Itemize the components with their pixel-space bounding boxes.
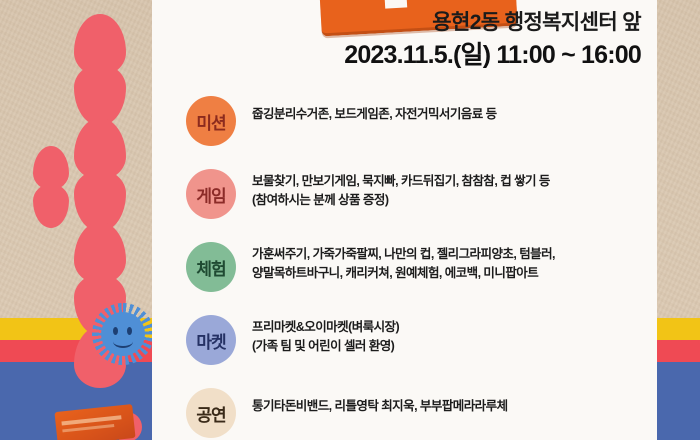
smiley-mouth [113, 335, 133, 348]
program-text: 보물찾기, 만보기게임, 묵지빠, 카드뒤집기, 참참참, 컵 쌓기 등 (참여… [236, 169, 646, 209]
event-datetime: 2023.11.5.(일) 11:00 ~ 16:00 [344, 40, 641, 70]
category-badge-performance: 공연 [186, 388, 236, 438]
content-panel: 용현2동 행정복지센터 앞 2023.11.5.(일) 11:00 ~ 16:0… [152, 0, 657, 440]
category-badge-experience: 체험 [186, 242, 236, 292]
program-line: 가훈써주기, 가죽가죽팔찌, 나만의 컵, 젤리그라피양초, 텀블러, [252, 245, 646, 263]
smiley-eye-right [127, 327, 132, 335]
program-row: 공연 통기타돈비밴드, 리틀영탁 최지욱, 부부팝메라라루체 [186, 388, 646, 438]
smiley-face [101, 312, 145, 356]
category-badge-market: 마켓 [186, 315, 236, 365]
event-poster: 용현2동 행정복지센터 앞 2023.11.5.(일) 11:00 ~ 16:0… [0, 0, 700, 440]
blue-smiley-sun-icon [92, 303, 154, 365]
program-text: 통기타돈비밴드, 리틀영탁 최지욱, 부부팝메라라루체 [236, 388, 646, 415]
program-text: 줍깅분리수거존, 보드게임존, 자전거믹서기음료 등 [236, 96, 646, 123]
program-row: 미션 줍깅분리수거존, 보드게임존, 자전거믹서기음료 등 [186, 96, 646, 146]
program-row: 체험 가훈써주기, 가죽가죽팔찌, 나만의 컵, 젤리그라피양초, 텀블러, 양… [186, 242, 646, 292]
event-place: 용현2동 행정복지센터 앞 [344, 10, 641, 36]
program-text: 가훈써주기, 가죽가죽팔찌, 나만의 컵, 젤리그라피양초, 텀블러, 양말목하… [236, 242, 646, 282]
program-line: 줍깅분리수거존, 보드게임존, 자전거믹서기음료 등 [252, 105, 646, 123]
program-row: 게임 보물찾기, 만보기게임, 묵지빠, 카드뒤집기, 참참참, 컵 쌓기 등 … [186, 169, 646, 219]
program-line: (참여하시는 분께 상품 증정) [252, 191, 646, 209]
ribbon-notch [383, 0, 407, 9]
program-text: 프리마켓&오이마켓(벼룩시장) (가족 팀 및 어린이 셀러 환영) [236, 315, 646, 355]
program-line: 통기타돈비밴드, 리틀영탁 최지욱, 부부팝메라라루체 [252, 397, 646, 415]
program-line: 프리마켓&오이마켓(벼룩시장) [252, 318, 646, 336]
program-line: (가족 팀 및 어린이 셀러 환영) [252, 337, 646, 355]
poster-header: 용현2동 행정복지센터 앞 2023.11.5.(일) 11:00 ~ 16:0… [344, 10, 641, 70]
category-badge-mission: 미션 [186, 96, 236, 146]
program-line: 보물찾기, 만보기게임, 묵지빠, 카드뒤집기, 참참참, 컵 쌓기 등 [252, 172, 646, 190]
decor-stripe [62, 424, 114, 432]
program-row: 마켓 프리마켓&오이마켓(벼룩시장) (가족 팀 및 어린이 셀러 환영) [186, 315, 646, 365]
program-line: 양말목하트바구니, 캐리커쳐, 원예체험, 에코백, 미니팝아트 [252, 264, 646, 282]
smiley-eye-left [113, 327, 118, 335]
program-list: 미션 줍깅분리수거존, 보드게임존, 자전거믹서기음료 등 게임 보물찾기, 만… [186, 96, 646, 440]
category-badge-game: 게임 [186, 169, 236, 219]
